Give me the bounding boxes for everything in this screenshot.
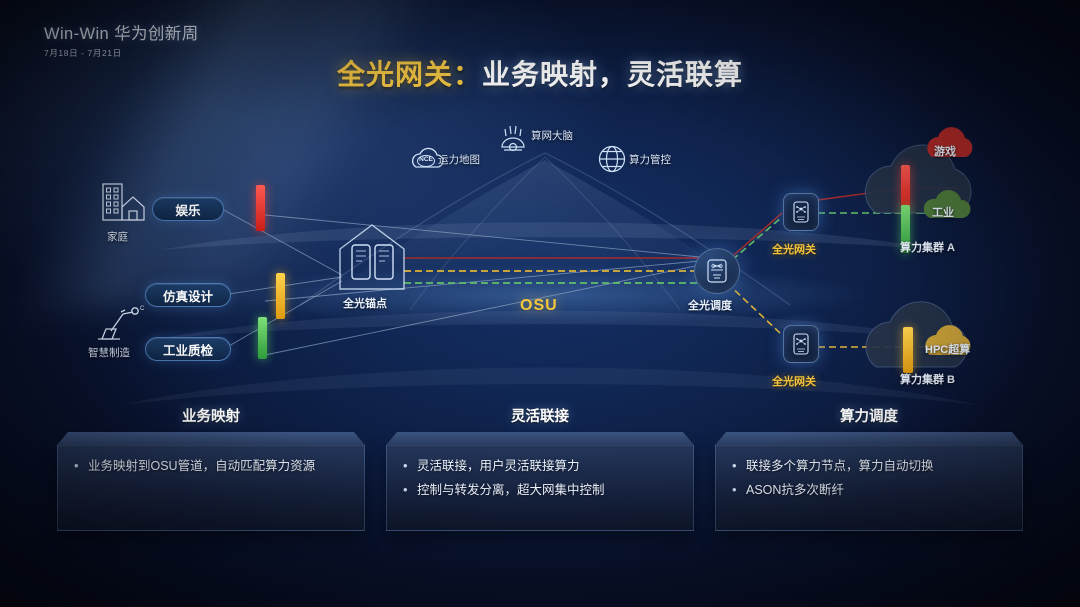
summary-cards: 业务映射 • 业务映射到OSU管道，自动匹配算力资源 灵活联接 • 灵活联接，用… [0, 405, 1080, 555]
building-house-icon [103, 184, 144, 220]
card-top-face [57, 432, 365, 445]
list-item: • ASON抗多次断纤 [732, 482, 1006, 499]
gateway-node-b[interactable] [783, 325, 819, 363]
bullet-text: ASON抗多次断纤 [746, 482, 844, 499]
bullet-dot: • [74, 458, 88, 474]
cluster-bar-yellow [903, 327, 913, 373]
bullet-dot: • [732, 458, 746, 474]
label-osu: OSU [520, 297, 558, 315]
service-pill-entertainment-label: 娱乐 [175, 200, 200, 219]
service-pill-simulation[interactable]: 仿真设计 [145, 283, 231, 307]
bullet-dot: • [732, 482, 746, 498]
mapping-bar-yellow [276, 273, 285, 319]
list-item: • 灵活联接，用户灵活联接算力 [403, 458, 677, 475]
list-item: • 联接多个算力节点，算力自动切换 [732, 458, 1006, 475]
bullet-text: 灵活联接，用户灵活联接算力 [417, 458, 580, 475]
summary-card-scheduling-body: • 联接多个算力节点，算力自动切换 • ASON抗多次断纤 [715, 445, 1023, 531]
globe-icon [600, 147, 625, 172]
nce-badge-text: NCE [419, 156, 433, 163]
label-scheduler: 全光调度 [688, 297, 732, 313]
gateway-chip-icon [793, 201, 809, 223]
label-anchor: 全光锚点 [343, 295, 387, 311]
page-title: 全光网关：业务映射，灵活联算 [0, 53, 1080, 93]
summary-card-scheduling-heading: 算力调度 [715, 405, 1023, 426]
ai-brain-icon [502, 126, 524, 151]
svg-text:C: C [140, 306, 145, 312]
workload-label-game: 游戏 [934, 143, 956, 159]
summary-card-mapping-heading: 业务映射 [57, 405, 365, 426]
list-item: • 业务映射到OSU管道，自动匹配算力资源 [74, 458, 348, 475]
label-nce-map: 运力地图 [438, 152, 480, 167]
service-pill-entertainment[interactable]: 娱乐 [152, 197, 224, 221]
label-source-home: 家庭 [107, 229, 128, 244]
bullet-text: 控制与转发分离，超大网集中控制 [417, 482, 605, 499]
page-title-rest: 业务映射，灵活联算 [482, 59, 743, 90]
summary-card-mapping-body: • 业务映射到OSU管道，自动匹配算力资源 [57, 445, 365, 531]
service-pill-qc-label: 工业质检 [163, 340, 213, 359]
mapping-bar-green [258, 317, 267, 359]
optical-tunnel-graphic [120, 153, 980, 405]
bullet-text: 业务映射到OSU管道，自动匹配算力资源 [88, 458, 315, 475]
mapping-bar-red [256, 185, 265, 231]
label-cluster-a: 算力集群 A [900, 239, 955, 255]
event-name: Win-Win 华为创新周 [44, 20, 199, 44]
label-gateway-b: 全光网关 [772, 373, 816, 389]
service-pill-qc[interactable]: 工业质检 [145, 337, 231, 361]
gateway-chip-icon [793, 333, 809, 355]
architecture-diagram: NCE [0, 105, 1080, 395]
slide-canvas: Win-Win 华为创新周 7月18日 - 7月21日 全光网关：业务映射，灵活… [0, 0, 1080, 607]
robot-arm-icon: C [98, 306, 145, 339]
bullet-text: 联接多个算力节点，算力自动切换 [746, 458, 934, 475]
card-top-face [715, 432, 1023, 445]
bullet-dot: • [403, 458, 417, 474]
label-gateway-a: 全光网关 [772, 241, 816, 257]
list-item: • 控制与转发分离，超大网集中控制 [403, 482, 677, 499]
service-pill-simulation-label: 仿真设计 [163, 286, 213, 305]
optical-scheduler-node[interactable] [694, 248, 740, 294]
summary-card-scheduling: 算力调度 • 联接多个算力节点，算力自动切换 • ASON抗多次断纤 [715, 405, 1023, 531]
gateway-node-a[interactable] [783, 193, 819, 231]
summary-card-connect-heading: 灵活联接 [386, 405, 694, 426]
label-brain: 算网大脑 [531, 128, 573, 143]
label-cluster-b: 算力集群 B [900, 371, 955, 387]
workload-label-hpc: HPC超算 [925, 341, 970, 357]
summary-card-mapping: 业务映射 • 业务映射到OSU管道，自动匹配算力资源 [57, 405, 365, 531]
summary-card-connect-body: • 灵活联接，用户灵活联接算力 • 控制与转发分离，超大网集中控制 [386, 445, 694, 531]
summary-card-connect: 灵活联接 • 灵活联接，用户灵活联接算力 • 控制与转发分离，超大网集中控制 [386, 405, 694, 531]
bullet-dot: • [403, 482, 417, 498]
label-source-smart-mfg: 智慧制造 [88, 345, 130, 360]
card-top-face [386, 432, 694, 445]
workload-label-industry: 工业 [932, 204, 954, 220]
page-title-highlight: 全光网关： [337, 59, 482, 90]
label-compute-mgmt: 算力管控 [629, 152, 671, 167]
optical-switch-icon [707, 259, 727, 283]
